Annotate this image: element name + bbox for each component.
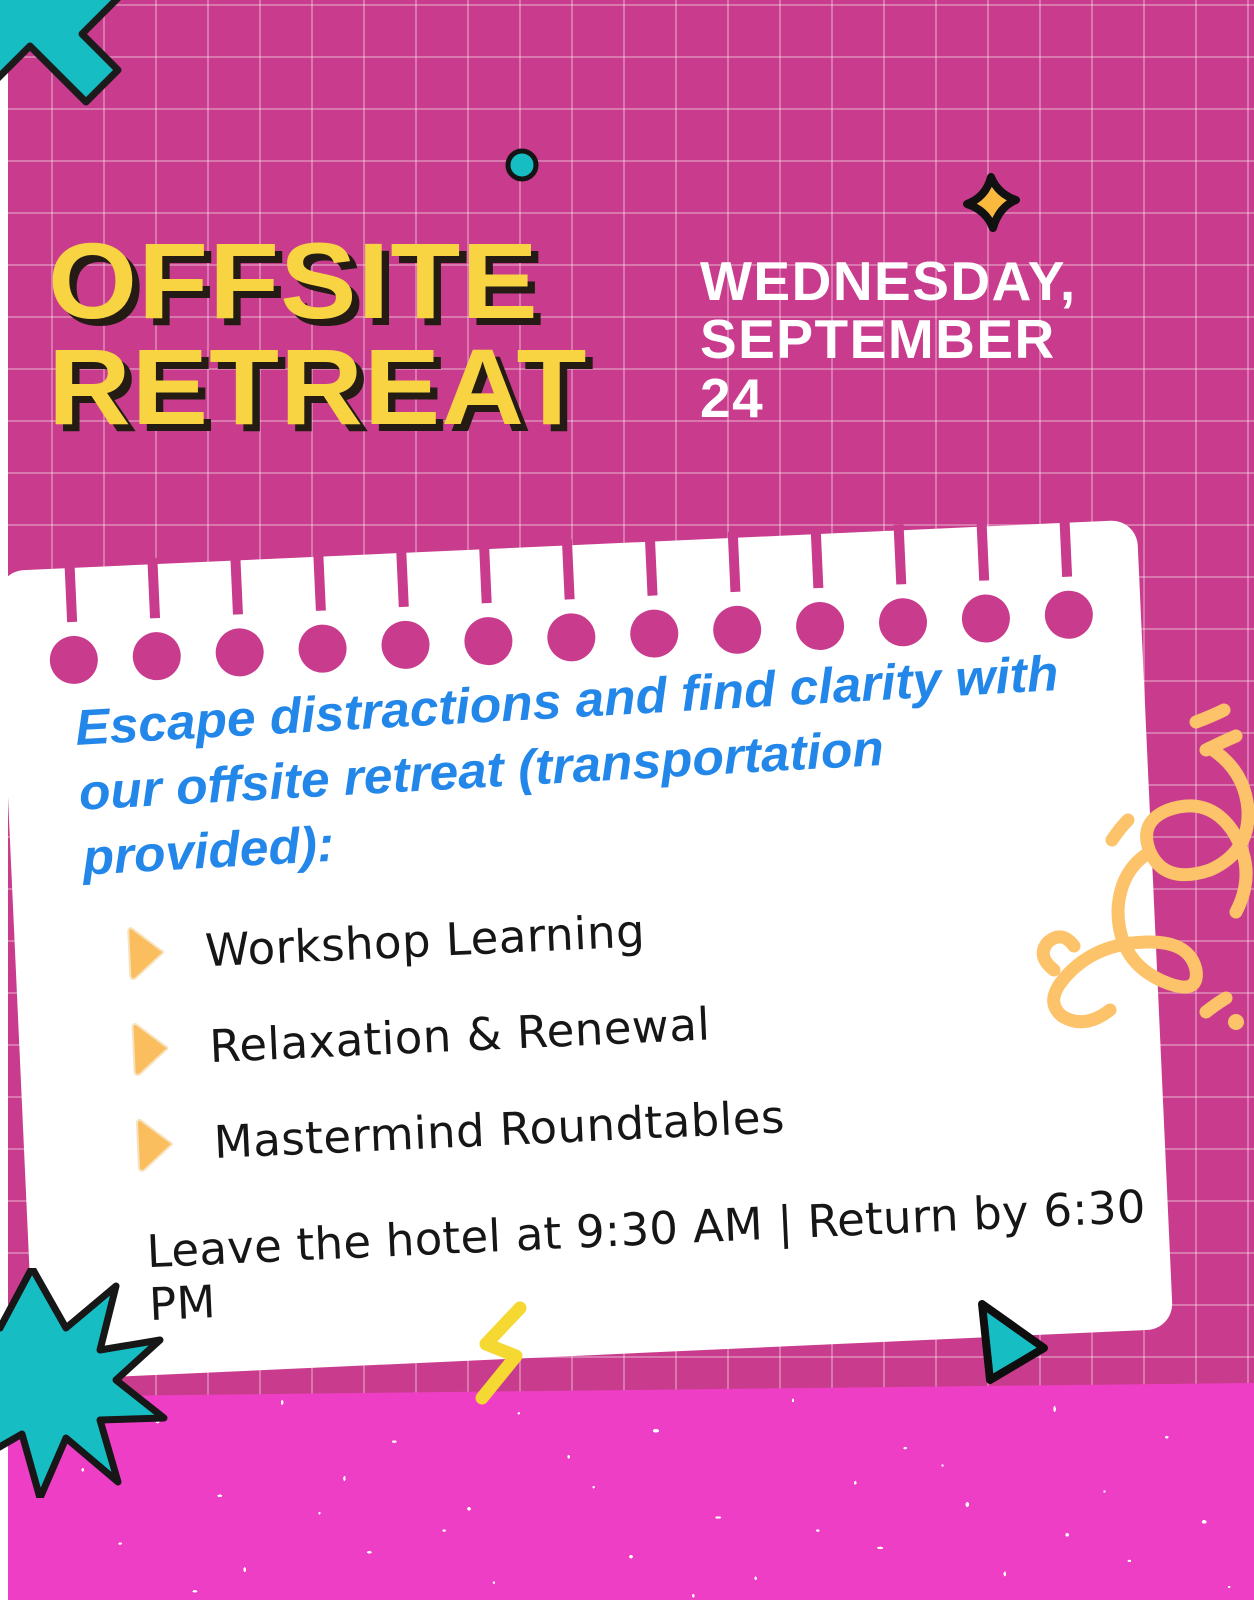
list-item-label: Workshop Learning (204, 904, 646, 977)
event-date: Wednesday, September 24 (700, 252, 1120, 427)
notepad-hole (214, 603, 265, 677)
notepad-hole (131, 607, 182, 681)
bullet-list: Workshop Learning Relaxation & Renewal M… (125, 863, 1077, 1193)
notepad-hole (1043, 566, 1094, 640)
notepad-hole (545, 588, 596, 662)
notepad-hole (462, 592, 513, 666)
poster-canvas: OFFSITE RETREAT Wednesday, September 24 … (0, 0, 1254, 1600)
chevron-right-icon (135, 1115, 180, 1175)
list-item-label: Relaxation & Renewal (208, 997, 711, 1073)
notepad-hole (794, 577, 845, 651)
notepad-hole (379, 596, 430, 670)
bottom-band (8, 1383, 1254, 1600)
list-item-label: Mastermind Roundtables (213, 1090, 786, 1169)
notepad-hole (296, 600, 347, 674)
notepad-hole (877, 573, 928, 647)
chevron-right-icon (126, 923, 171, 983)
notepad-hole (628, 585, 679, 659)
notepad-hole (960, 569, 1011, 643)
notepad-card: Escape distractions and find clarity wit… (0, 520, 1174, 1401)
notepad-hole (48, 611, 99, 685)
notepad-hole (711, 581, 762, 655)
chevron-right-icon (130, 1019, 175, 1079)
page-title: OFFSITE RETREAT (48, 228, 599, 440)
speckle-texture (8, 1383, 1254, 1600)
